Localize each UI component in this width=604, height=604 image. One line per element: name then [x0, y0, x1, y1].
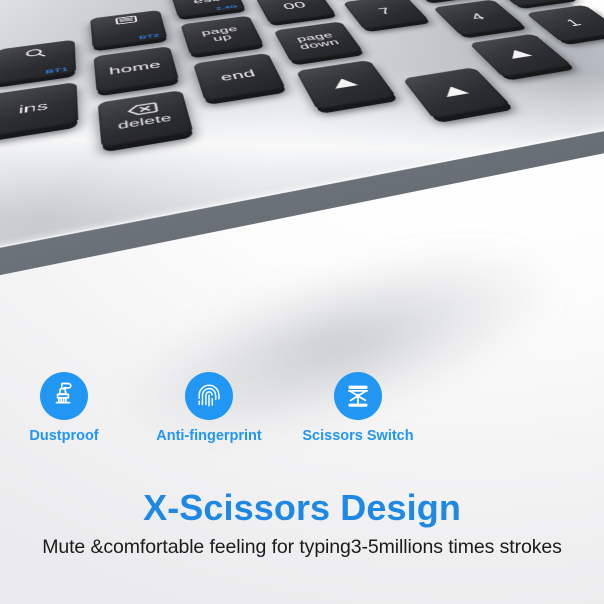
key-sublabel: BT2: [139, 33, 161, 40]
key-label: 1: [563, 18, 585, 28]
feature-label: Scissors Switch: [302, 428, 413, 444]
feature-anti-fingerprint: Anti-fingerprint: [144, 372, 274, 444]
key-label: 4: [468, 12, 488, 22]
scissor-switch-icon: [334, 372, 382, 420]
screen-icon: [115, 16, 138, 28]
key-label: page down: [294, 31, 341, 51]
key-label: 00: [281, 0, 308, 11]
feature-label: Dustproof: [29, 428, 98, 444]
key-label: esc: [192, 0, 221, 5]
key-label: 7: [376, 6, 394, 16]
fingerprint-icon: [185, 372, 233, 420]
feature-row: Dustproof: [22, 372, 442, 444]
keyboard: fnBT1BT2esc2.4Gtabinshomepage up00/*dele…: [0, 0, 604, 297]
key-sublabel: 2.4G: [215, 4, 238, 11]
product-marketing-image: fnBT1BT2esc2.4Gtabinshomepage up00/*dele…: [0, 0, 604, 604]
page-subtitle: Mute &comfortable feeling for typing3-5m…: [0, 536, 604, 559]
page-title: X-Scissors Design: [0, 487, 604, 529]
brush-icon: [40, 372, 88, 420]
feature-label: Anti-fingerprint: [156, 428, 262, 444]
feature-scissors-switch: Scissors Switch: [296, 372, 420, 444]
feature-dustproof: Dustproof: [22, 372, 106, 444]
key-label: page up: [200, 25, 242, 44]
